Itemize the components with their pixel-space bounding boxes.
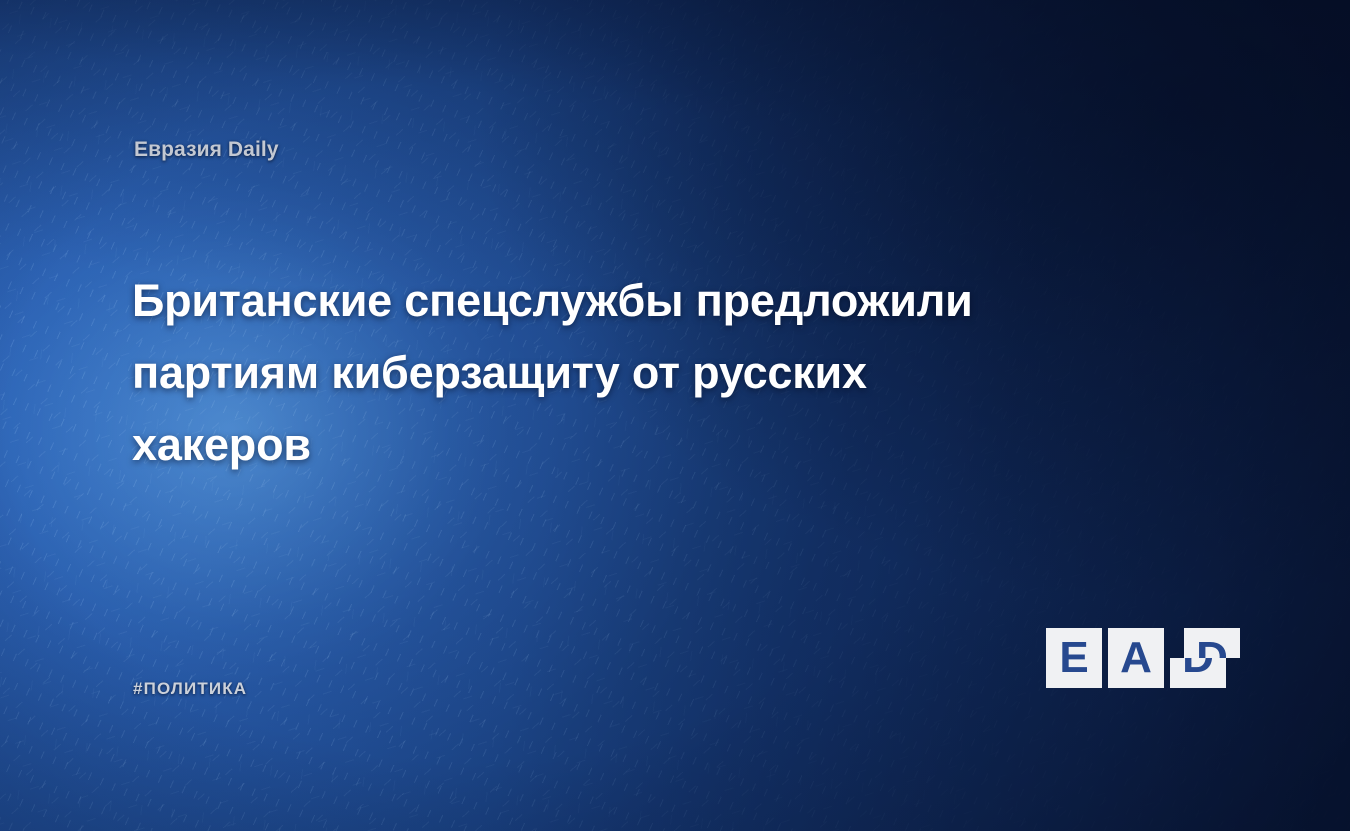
category-tag-politika[interactable]: #ПОЛИТИКА	[133, 679, 247, 699]
logo-tile-a: A	[1108, 628, 1164, 688]
logo-tile-d: D D	[1170, 628, 1226, 688]
logo-letter-d-bottom-half: D	[1170, 658, 1226, 688]
headline-line-3: хакеров	[132, 409, 1202, 481]
logo-letter-e: E	[1059, 636, 1088, 680]
brand-name: Евразия Daily	[134, 138, 279, 162]
headline-line-2: партиям киберзащиту от русских	[132, 337, 1202, 409]
ead-logo[interactable]: E A D D	[1046, 628, 1228, 688]
logo-letter-d-top-half: D	[1184, 628, 1240, 658]
logo-letter-d-lower: D	[1170, 658, 1226, 688]
news-card: Евразия Daily Британские спецслужбы пред…	[0, 0, 1350, 831]
page-title: Британские спецслужбы предложили партиям…	[132, 265, 1202, 481]
logo-tile-e: E	[1046, 628, 1102, 688]
logo-letter-d-upper: D	[1184, 628, 1240, 658]
logo-letter-a: A	[1120, 636, 1152, 680]
headline-line-1: Британские спецслужбы предложили	[132, 265, 1202, 337]
card-content: Евразия Daily Британские спецслужбы пред…	[0, 0, 1350, 831]
